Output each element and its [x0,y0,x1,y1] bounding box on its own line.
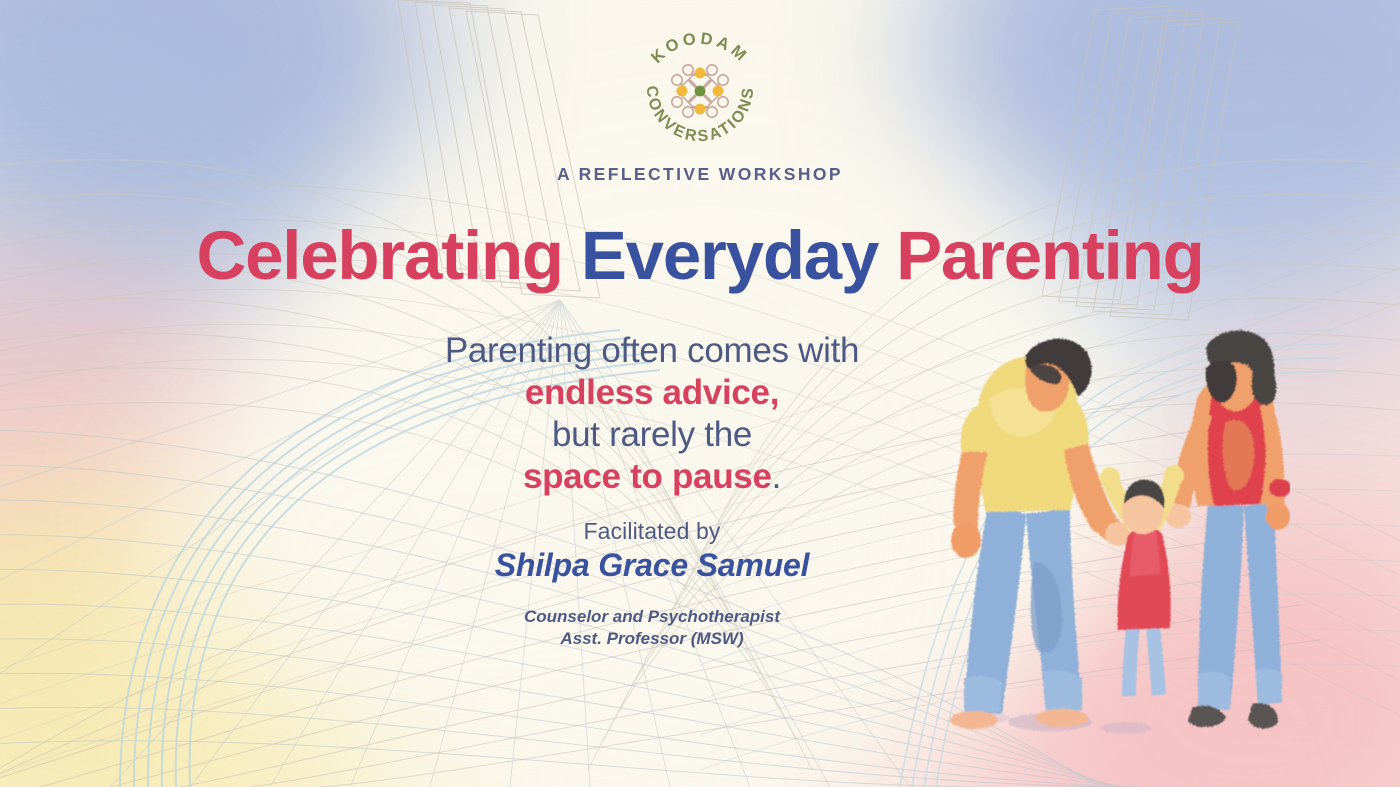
father-left-hand [951,522,981,558]
headline-word-celebrating: Celebrating [196,217,562,294]
child-left-hand [1100,467,1120,489]
poster-canvas: KOODAM CONVERSATIONS [0,0,1400,787]
child-dress-highlight [1130,530,1160,576]
kolam-center-dot [695,86,706,97]
headline-word-parenting: Parenting [896,217,1203,294]
subtitle-line-4-text: space to pause [523,457,772,496]
mother-right-cuff [1256,668,1282,706]
family-illustration [930,326,1290,756]
workshop-eyebrow-label: A REFLECTIVE WORKSHOP [0,164,1400,185]
father-figure [950,339,1131,729]
father-right-foot [1036,709,1088,727]
logo-top-arc-text: KOODAM [648,30,752,67]
father-left-foot [950,711,998,729]
logo-svg: KOODAM CONVERSATIONS [625,16,775,166]
child-left-leg [1122,626,1140,696]
page-title: Celebrating Everyday Parenting [0,216,1400,295]
mother-left-cuff [1198,672,1230,710]
kolam-dot-bottom [695,104,706,115]
brand-logo: KOODAM CONVERSATIONS [625,16,775,166]
mother-figure [1165,331,1290,729]
mother-right-hand [1266,502,1290,530]
mother-right-shoe [1248,703,1278,729]
father-left-cuff [964,676,1002,712]
headline-word-everyday: Everyday [581,217,878,294]
subtitle-line-4-period: . [772,457,781,496]
child-figure [1100,465,1184,696]
child-right-leg [1146,624,1166,696]
mother-bracelet [1269,479,1290,497]
kolam-dot-left [677,86,688,97]
child-right-hand [1164,465,1184,487]
father-right-cuff [1044,670,1082,712]
kolam-dot-top [695,68,706,79]
kolam-dot-right [713,86,724,97]
